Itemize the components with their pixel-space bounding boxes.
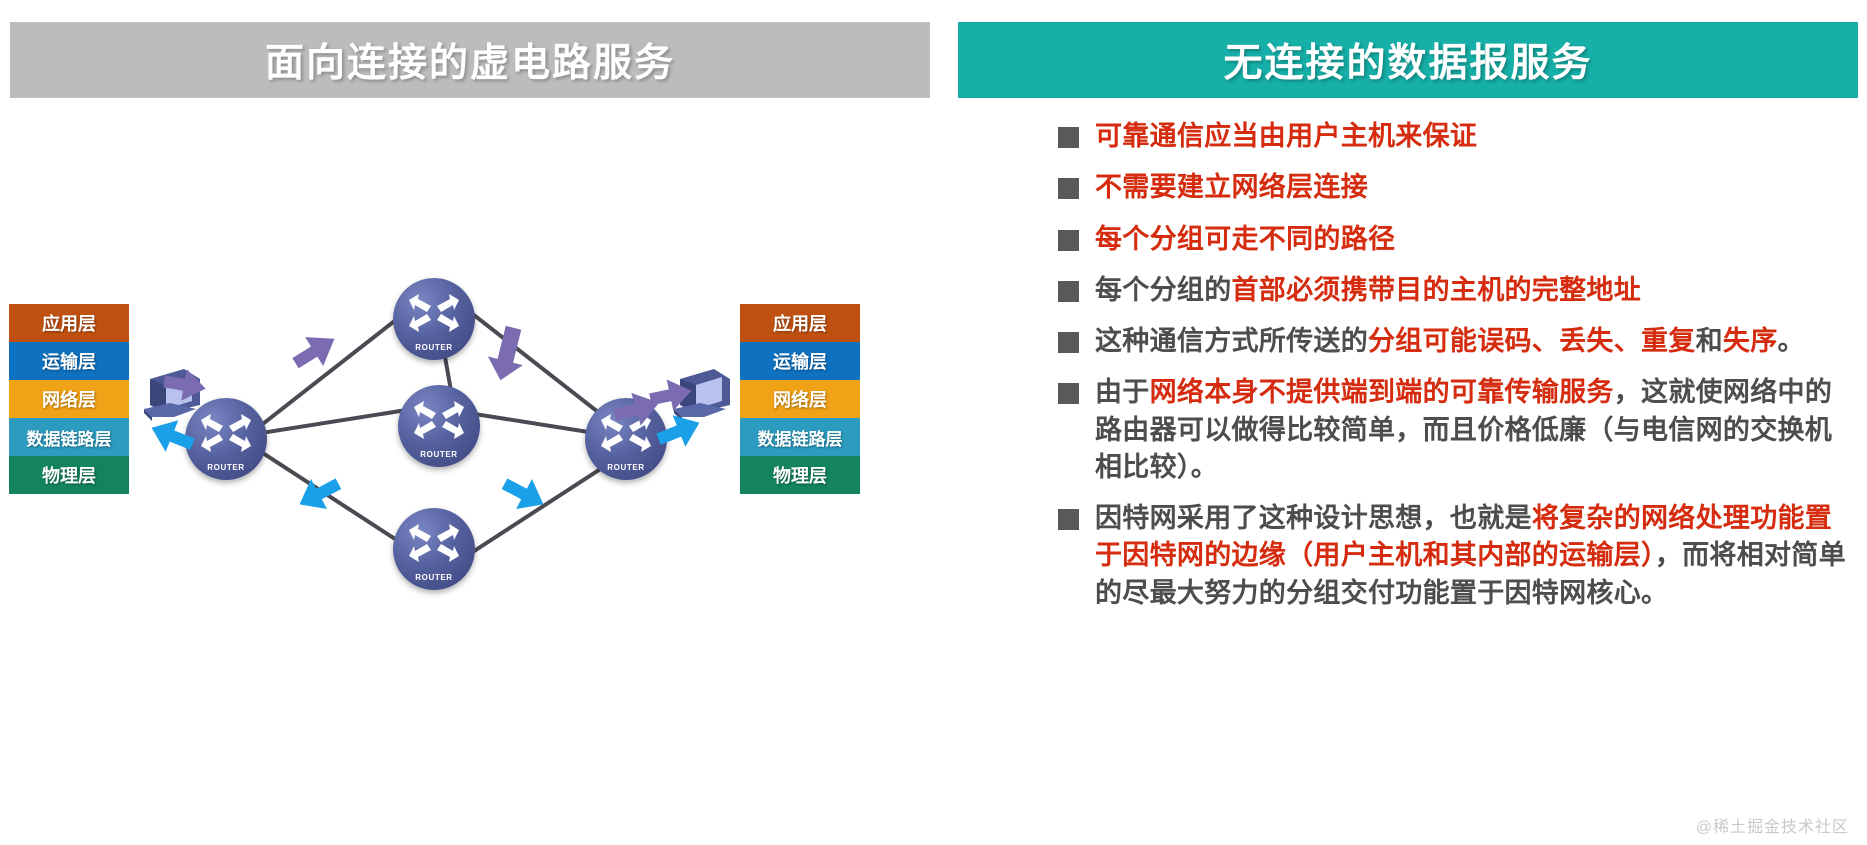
layer-transport: 运输层 (9, 342, 129, 380)
body-text: 这种通信方式所传送的 (1095, 326, 1368, 356)
layer-label: 网络层 (773, 386, 827, 412)
router-label: ROUTER (398, 450, 480, 459)
layer-label: 物理层 (42, 462, 96, 488)
router-bottom: ROUTER (393, 508, 475, 590)
emphasis-text: 分组可能误码、丢失、重复 (1368, 326, 1696, 356)
bullet-square-icon (1058, 127, 1079, 148)
bullet-item: 可靠通信应当由用户主机来保证 (1058, 118, 1858, 155)
layer-label: 网络层 (42, 386, 96, 412)
bullet-square-icon (1058, 383, 1079, 404)
bullet-list: 可靠通信应当由用户主机来保证 不需要建立网络层连接 每个分组可走不同的路径 每个… (1058, 118, 1858, 626)
protocol-stack-right: 应用层 运输层 网络层 数据链路层 物理层 (740, 304, 860, 494)
bullet-square-icon (1058, 178, 1079, 199)
packet-arrow-blue-lower-left (295, 473, 343, 520)
bullet-text: 每个分组的首部必须携带目的主机的完整地址 (1095, 272, 1641, 309)
bullet-item: 不需要建立网络层连接 (1058, 169, 1858, 206)
layer-transport: 运输层 (740, 342, 860, 380)
layer-label: 应用层 (42, 310, 96, 336)
body-text: 因特网采用了这种设计思想，也就是 (1095, 503, 1532, 533)
bullet-text: 可靠通信应当由用户主机来保证 (1095, 118, 1477, 155)
bullet-square-icon (1058, 509, 1079, 530)
router-label: ROUTER (393, 573, 475, 582)
router-label: ROUTER (585, 463, 667, 472)
layer-label: 数据链路层 (758, 425, 843, 450)
header-title-right: 无连接的数据报服务 (1223, 32, 1592, 88)
header-title-left: 面向连接的虚电路服务 (265, 32, 675, 88)
body-text: 和 (1696, 326, 1723, 356)
bullet-item: 因特网采用了这种设计思想，也就是将复杂的网络处理功能置于因特网的边缘（用户主机和… (1058, 500, 1858, 612)
bullet-text: 每个分组可走不同的路径 (1095, 221, 1395, 258)
emphasis-text: 网络本身不提供端到端的可靠传输服务 (1150, 377, 1614, 407)
body-text: 。 (1778, 326, 1805, 356)
emphasis-text: 失序 (1723, 326, 1778, 356)
layer-label: 运输层 (42, 348, 96, 374)
packet-arrow-blue-right-host (655, 410, 703, 457)
packet-arrow-purple-top-down (485, 325, 529, 388)
layer-physical: 物理层 (740, 456, 860, 494)
layer-application: 应用层 (740, 304, 860, 342)
header-banner-left: 面向连接的虚电路服务 (10, 22, 930, 98)
layer-label: 数据链路层 (27, 425, 112, 450)
bullet-item: 由于网络本身不提供端到端的可靠传输服务，这就使网络中的路由器可以做得比较简单，而… (1058, 374, 1858, 486)
bullet-item: 每个分组的首部必须携带目的主机的完整地址 (1058, 272, 1858, 309)
packet-arrow-blue-lower-right (500, 473, 548, 520)
bullet-item: 每个分组可走不同的路径 (1058, 221, 1858, 258)
layer-label: 应用层 (773, 310, 827, 336)
layer-application: 应用层 (9, 304, 129, 342)
bullet-square-icon (1058, 332, 1079, 353)
packet-arrow-purple-host-left (162, 365, 208, 410)
layer-label: 运输层 (773, 348, 827, 374)
layer-data-link: 数据链路层 (9, 418, 129, 456)
bullet-square-icon (1058, 230, 1079, 251)
bullet-text: 这种通信方式所传送的分组可能误码、丢失、重复和失序。 (1095, 323, 1805, 360)
router-label: ROUTER (393, 343, 475, 352)
bullet-square-icon (1058, 281, 1079, 302)
router-center: ROUTER (398, 385, 480, 467)
emphasis-text: 首部必须携带目的主机的完整地址 (1232, 275, 1642, 305)
emphasis-text: 可靠通信应当由用户主机来保证 (1095, 121, 1477, 151)
network-diagram: ROUTER ROUTER (0, 110, 950, 810)
bullet-text: 由于网络本身不提供端到端的可靠传输服务，这就使网络中的路由器可以做得比较简单，而… (1095, 374, 1858, 486)
bullet-item: 这种通信方式所传送的分组可能误码、丢失、重复和失序。 (1058, 323, 1858, 360)
bullet-text: 因特网采用了这种设计思想，也就是将复杂的网络处理功能置于因特网的边缘（用户主机和… (1095, 500, 1858, 612)
layer-network: 网络层 (740, 380, 860, 418)
router-label: ROUTER (185, 463, 267, 472)
protocol-stack-left: 应用层 运输层 网络层 数据链路层 物理层 (9, 304, 129, 494)
packet-arrow-purple-upper-left (290, 330, 340, 377)
emphasis-text: 每个分组可走不同的路径 (1095, 224, 1395, 254)
watermark: @稀土掘金技术社区 (1696, 813, 1849, 837)
layer-physical: 物理层 (9, 456, 129, 494)
body-text: 由于 (1095, 377, 1150, 407)
bullet-text: 不需要建立网络层连接 (1095, 169, 1368, 206)
router-top: ROUTER (393, 278, 475, 360)
packet-arrow-blue-left-host (148, 415, 196, 462)
layer-data-link: 数据链路层 (740, 418, 860, 456)
body-text: 每个分组的 (1095, 275, 1232, 305)
emphasis-text: 不需要建立网络层连接 (1095, 172, 1368, 202)
slide-root: 面向连接的虚电路服务 无连接的数据报服务 (0, 0, 1867, 845)
router-left: ROUTER (185, 398, 267, 480)
layer-network: 网络层 (9, 380, 129, 418)
layer-label: 物理层 (773, 462, 827, 488)
header-banner-right: 无连接的数据报服务 (958, 22, 1858, 98)
